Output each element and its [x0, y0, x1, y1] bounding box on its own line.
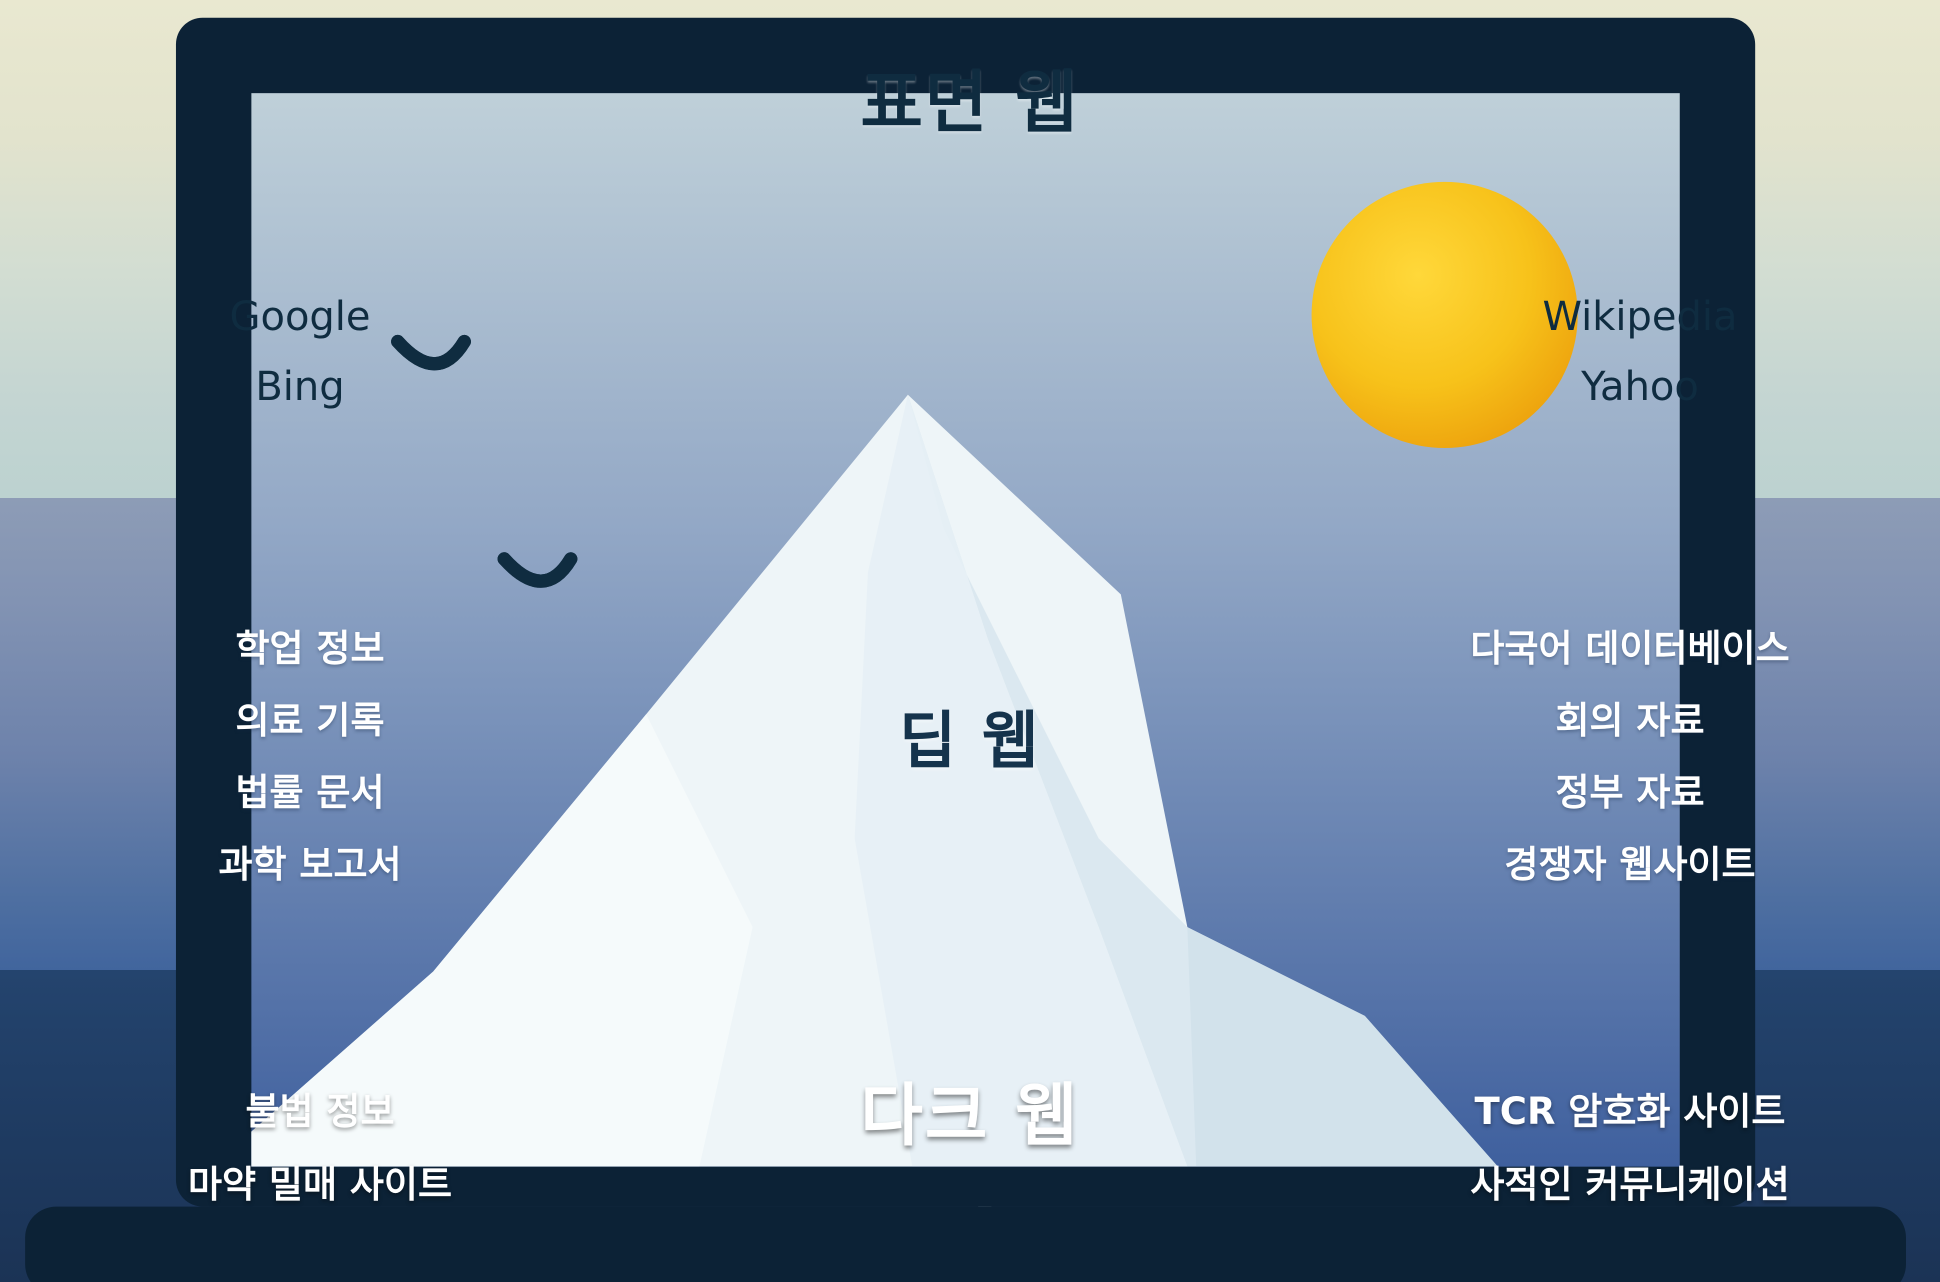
dark-web-left-list: 불법 정보 마약 밀매 사이트 [70, 1075, 570, 1221]
infographic-canvas: 표면 웹 Google Bing Wikipedia Yahoo 딥 웹 학업 … [0, 0, 1940, 1282]
list-item: 다국어 데이터베이스 [1380, 613, 1880, 685]
surface-web-right-list: Wikipedia Yahoo [1440, 282, 1840, 422]
list-item: 불법 정보 [70, 1075, 570, 1148]
list-item: Yahoo [1440, 352, 1840, 422]
list-item: 회의 자료 [1380, 685, 1880, 757]
list-item: 학업 정보 [70, 613, 550, 685]
list-item: 마약 밀매 사이트 [70, 1148, 570, 1221]
list-item: Google [100, 282, 500, 352]
surface-web-title: 표면 웹 [0, 47, 1940, 146]
dark-web-right-list: TCR 암호화 사이트 사적인 커뮤니케이션 [1370, 1075, 1890, 1221]
list-item: 과학 보고서 [70, 829, 550, 901]
list-item: 사적인 커뮤니케이션 [1370, 1148, 1890, 1221]
list-item: 정부 자료 [1380, 757, 1880, 829]
list-item: 의료 기록 [70, 685, 550, 757]
list-item: TCR 암호화 사이트 [1370, 1075, 1890, 1148]
list-item: Wikipedia [1440, 282, 1840, 352]
list-item: 경쟁자 웹사이트 [1380, 829, 1880, 901]
surface-web-left-list: Google Bing [100, 282, 500, 422]
list-item: 법률 문서 [70, 757, 550, 829]
list-item: Bing [100, 352, 500, 422]
deep-web-left-list: 학업 정보 의료 기록 법률 문서 과학 보고서 [70, 613, 550, 901]
deep-web-right-list: 다국어 데이터베이스 회의 자료 정부 자료 경쟁자 웹사이트 [1380, 613, 1880, 901]
